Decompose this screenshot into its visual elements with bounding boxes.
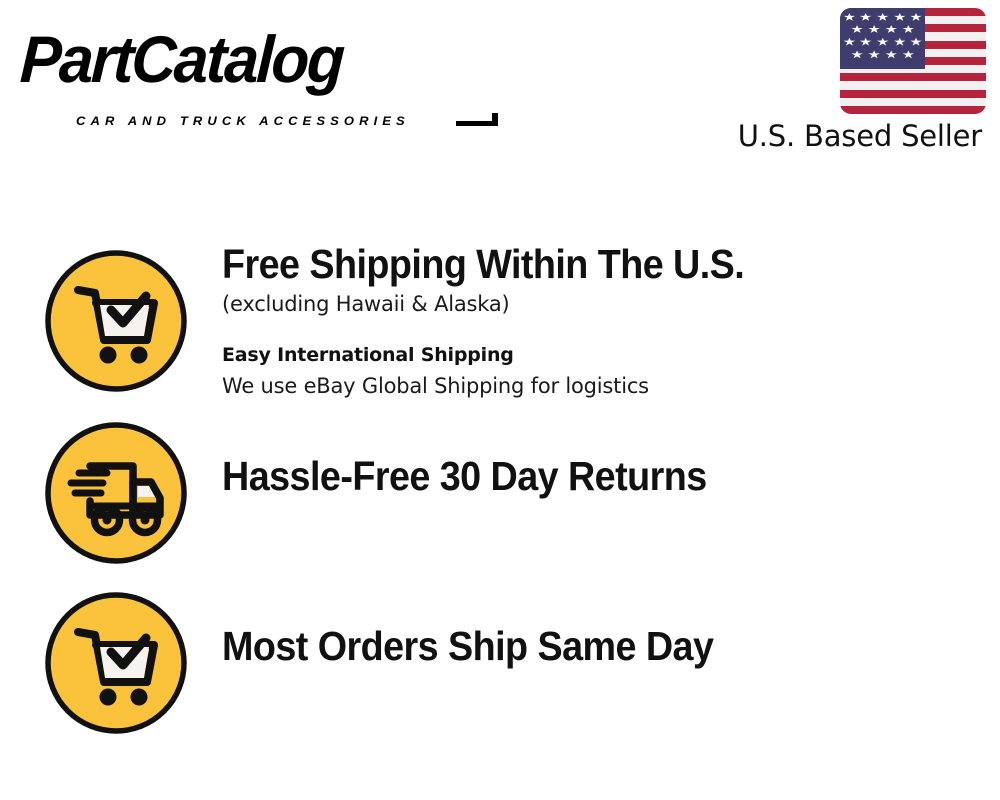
flag-canton — [840, 8, 925, 69]
feature-sub-text: We use eBay Global Shipping for logistic… — [222, 370, 962, 402]
logo-swoosh-icon — [454, 112, 500, 128]
brand-wordmark: PartCatalog — [19, 26, 345, 92]
feature-note: (excluding Hawaii & Alaska) — [222, 288, 962, 320]
shopping-cart-check-icon — [43, 590, 189, 736]
shopping-cart-check-icon — [43, 248, 189, 394]
feature-title: Most Orders Ship Same Day — [222, 622, 903, 670]
flag-stripe — [840, 106, 986, 114]
feature-title: Free Shipping Within The U.S. — [222, 240, 903, 288]
feature-title: Hassle-Free 30 Day Returns — [222, 452, 903, 500]
feature-text-block: Hassle-Free 30 Day Returns — [222, 452, 962, 500]
feature-row: Most Orders Ship Same Day — [0, 582, 1000, 754]
brand-logo[interactable]: PartCatalog CAR AND TRUCK ACCESSORIES — [22, 26, 492, 116]
us-flag-icon — [840, 8, 986, 114]
flag-stars — [840, 8, 925, 69]
feature-sub-heading: Easy International Shipping — [222, 340, 962, 370]
seller-label: U.S. Based Seller — [716, 119, 986, 153]
page-header: PartCatalog CAR AND TRUCK ACCESSORIES — [0, 0, 1000, 170]
feature-text-block: Free Shipping Within The U.S. (excluding… — [222, 240, 962, 402]
brand-tagline: CAR AND TRUCK ACCESSORIES — [76, 114, 410, 128]
feature-row: Hassle-Free 30 Day Returns — [0, 412, 1000, 582]
delivery-truck-icon — [43, 420, 189, 566]
feature-text-block: Most Orders Ship Same Day — [222, 622, 962, 670]
feature-row: Free Shipping Within The U.S. (excluding… — [0, 240, 1000, 412]
seller-badge: U.S. Based Seller — [716, 8, 986, 153]
